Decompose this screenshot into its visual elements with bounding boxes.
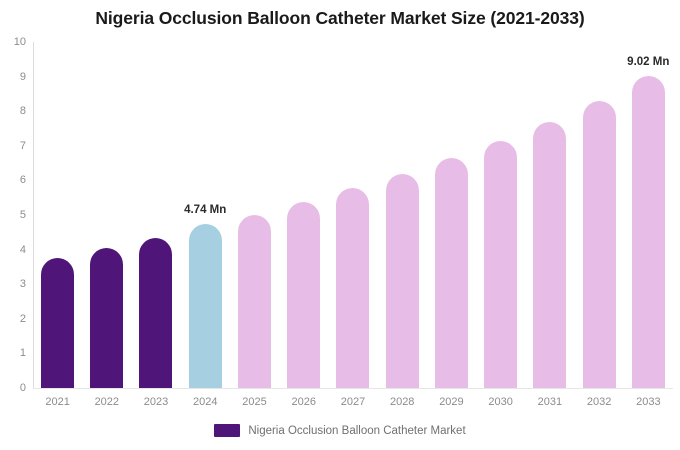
bar-2031[interactable] [533,122,566,388]
y-axis-tick-label: 2 [20,313,26,325]
bar-2021[interactable] [41,258,74,388]
x-axis-tick-2030: 2030 [476,396,525,408]
bar-group: 4.74 Mn9.02 Mn [33,42,673,388]
legend-swatch-icon [214,424,240,437]
plot-area: 4.74 Mn9.02 Mn [33,42,673,388]
bar-slot [82,42,131,388]
y-axis-tick-label: 10 [14,36,26,48]
y-axis-ticks: 012345678910 [0,42,26,388]
bar-2026[interactable] [287,202,320,388]
x-axis-tick-2022: 2022 [82,396,131,408]
x-axis-tick-2032: 2032 [575,396,624,408]
x-axis-tick-2031: 2031 [525,396,574,408]
bar-2027[interactable] [336,188,369,388]
y-axis-tick-label: 3 [20,278,26,290]
bar-2033[interactable] [632,76,665,388]
bar-slot: 9.02 Mn [624,42,673,388]
x-axis-tick-2029: 2029 [427,396,476,408]
x-axis-line [33,388,673,389]
bar-2029[interactable] [435,158,468,388]
bar-2022[interactable] [90,248,123,388]
y-axis-tick-label: 1 [20,347,26,359]
bar-slot [328,42,377,388]
y-axis-tick-label: 8 [20,105,26,117]
x-axis-tick-2033: 2033 [624,396,673,408]
bar-2025[interactable] [238,215,271,388]
x-axis-tick-2023: 2023 [131,396,180,408]
bar-slot: 4.74 Mn [181,42,230,388]
chart-title: Nigeria Occlusion Balloon Catheter Marke… [0,8,680,29]
y-axis-tick-label: 0 [20,382,26,394]
x-axis-labels: 2021202220232024202520262027202820292030… [33,396,673,414]
x-axis-tick-2026: 2026 [279,396,328,408]
bar-slot [33,42,82,388]
bar-slot [575,42,624,388]
x-axis-tick-2024: 2024 [181,396,230,408]
bar-slot [230,42,279,388]
bar-slot [378,42,427,388]
y-axis-tick-label: 7 [20,140,26,152]
x-axis-tick-2021: 2021 [33,396,82,408]
bar-2028[interactable] [386,174,419,388]
chart-container: Nigeria Occlusion Balloon Catheter Marke… [0,0,680,450]
bar-2030[interactable] [484,141,517,388]
y-axis-tick-label: 4 [20,244,26,256]
y-axis-tick-label: 5 [20,209,26,221]
bar-slot [525,42,574,388]
x-axis-tick-2027: 2027 [328,396,377,408]
x-axis-tick-2028: 2028 [378,396,427,408]
legend-label[interactable]: Nigeria Occlusion Balloon Catheter Marke… [248,425,465,437]
x-axis-tick-2025: 2025 [230,396,279,408]
bar-slot [279,42,328,388]
y-axis-tick-label: 9 [20,71,26,83]
bar-2024[interactable] [189,224,222,388]
chart-legend: Nigeria Occlusion Balloon Catheter Marke… [0,424,680,437]
bar-value-label: 9.02 Mn [603,56,680,68]
bar-slot [427,42,476,388]
bar-2032[interactable] [583,101,616,388]
bar-slot [476,42,525,388]
bar-2023[interactable] [139,238,172,389]
y-axis-tick-label: 6 [20,174,26,186]
